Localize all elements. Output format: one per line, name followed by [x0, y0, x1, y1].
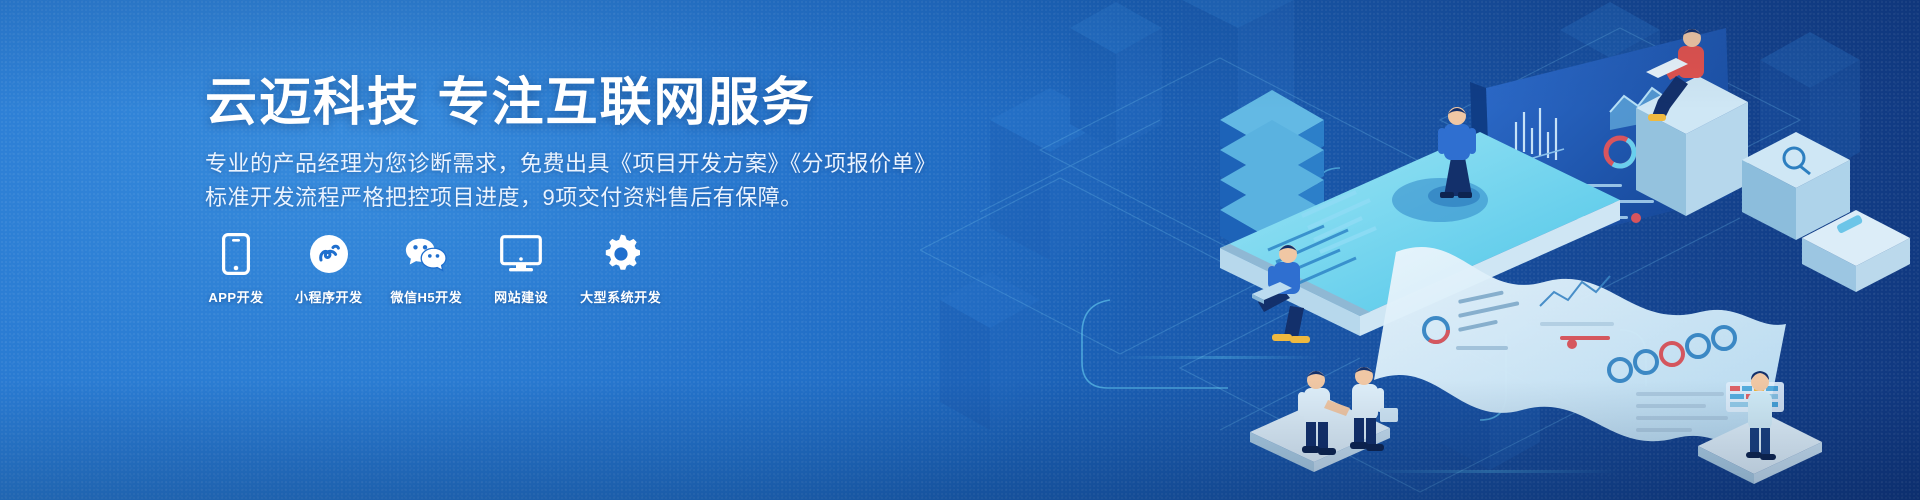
- service-item-app[interactable]: APP开发: [205, 232, 267, 306]
- gear-icon: [599, 232, 643, 276]
- page-title: 云迈科技 专注互联网服务: [205, 72, 815, 134]
- service-label: 微信H5开发: [391, 290, 463, 306]
- service-label: 大型系统开发: [580, 290, 661, 306]
- subtitle-line-1: 专业的产品经理为您诊断需求，免费出具《项目开发方案》《分项报价单》: [205, 147, 937, 181]
- service-item-mini-program[interactable]: 小程序开发: [295, 232, 363, 306]
- service-item-wechat-h5[interactable]: 微信H5开发: [391, 232, 463, 306]
- monitor-icon: [499, 232, 543, 276]
- mini-program-icon: [307, 232, 351, 276]
- subtitle-line-2: 标准开发流程严格把控项目进度，9项交付资料售后有保障。: [205, 181, 803, 215]
- service-item-website[interactable]: 网站建设: [490, 232, 552, 306]
- service-list: APP开发 小程序开发: [205, 232, 689, 306]
- service-label: APP开发: [208, 290, 263, 306]
- wechat-icon: [404, 232, 448, 276]
- mobile-phone-icon: [214, 232, 258, 276]
- service-label: 网站建设: [494, 290, 548, 306]
- hero-banner: 云迈科技 专注互联网服务 专业的产品经理为您诊断需求，免费出具《项目开发方案》《…: [0, 0, 1920, 500]
- banner-content: 云迈科技 专注互联网服务 专业的产品经理为您诊断需求，免费出具《项目开发方案》《…: [205, 0, 965, 500]
- data-report-sheet: [1374, 247, 1786, 449]
- service-item-large-system[interactable]: 大型系统开发: [580, 232, 661, 306]
- service-label: 小程序开发: [295, 290, 363, 306]
- illustration-isometric-analytics: [920, 0, 1920, 500]
- person-pair-handshake: [1250, 367, 1398, 472]
